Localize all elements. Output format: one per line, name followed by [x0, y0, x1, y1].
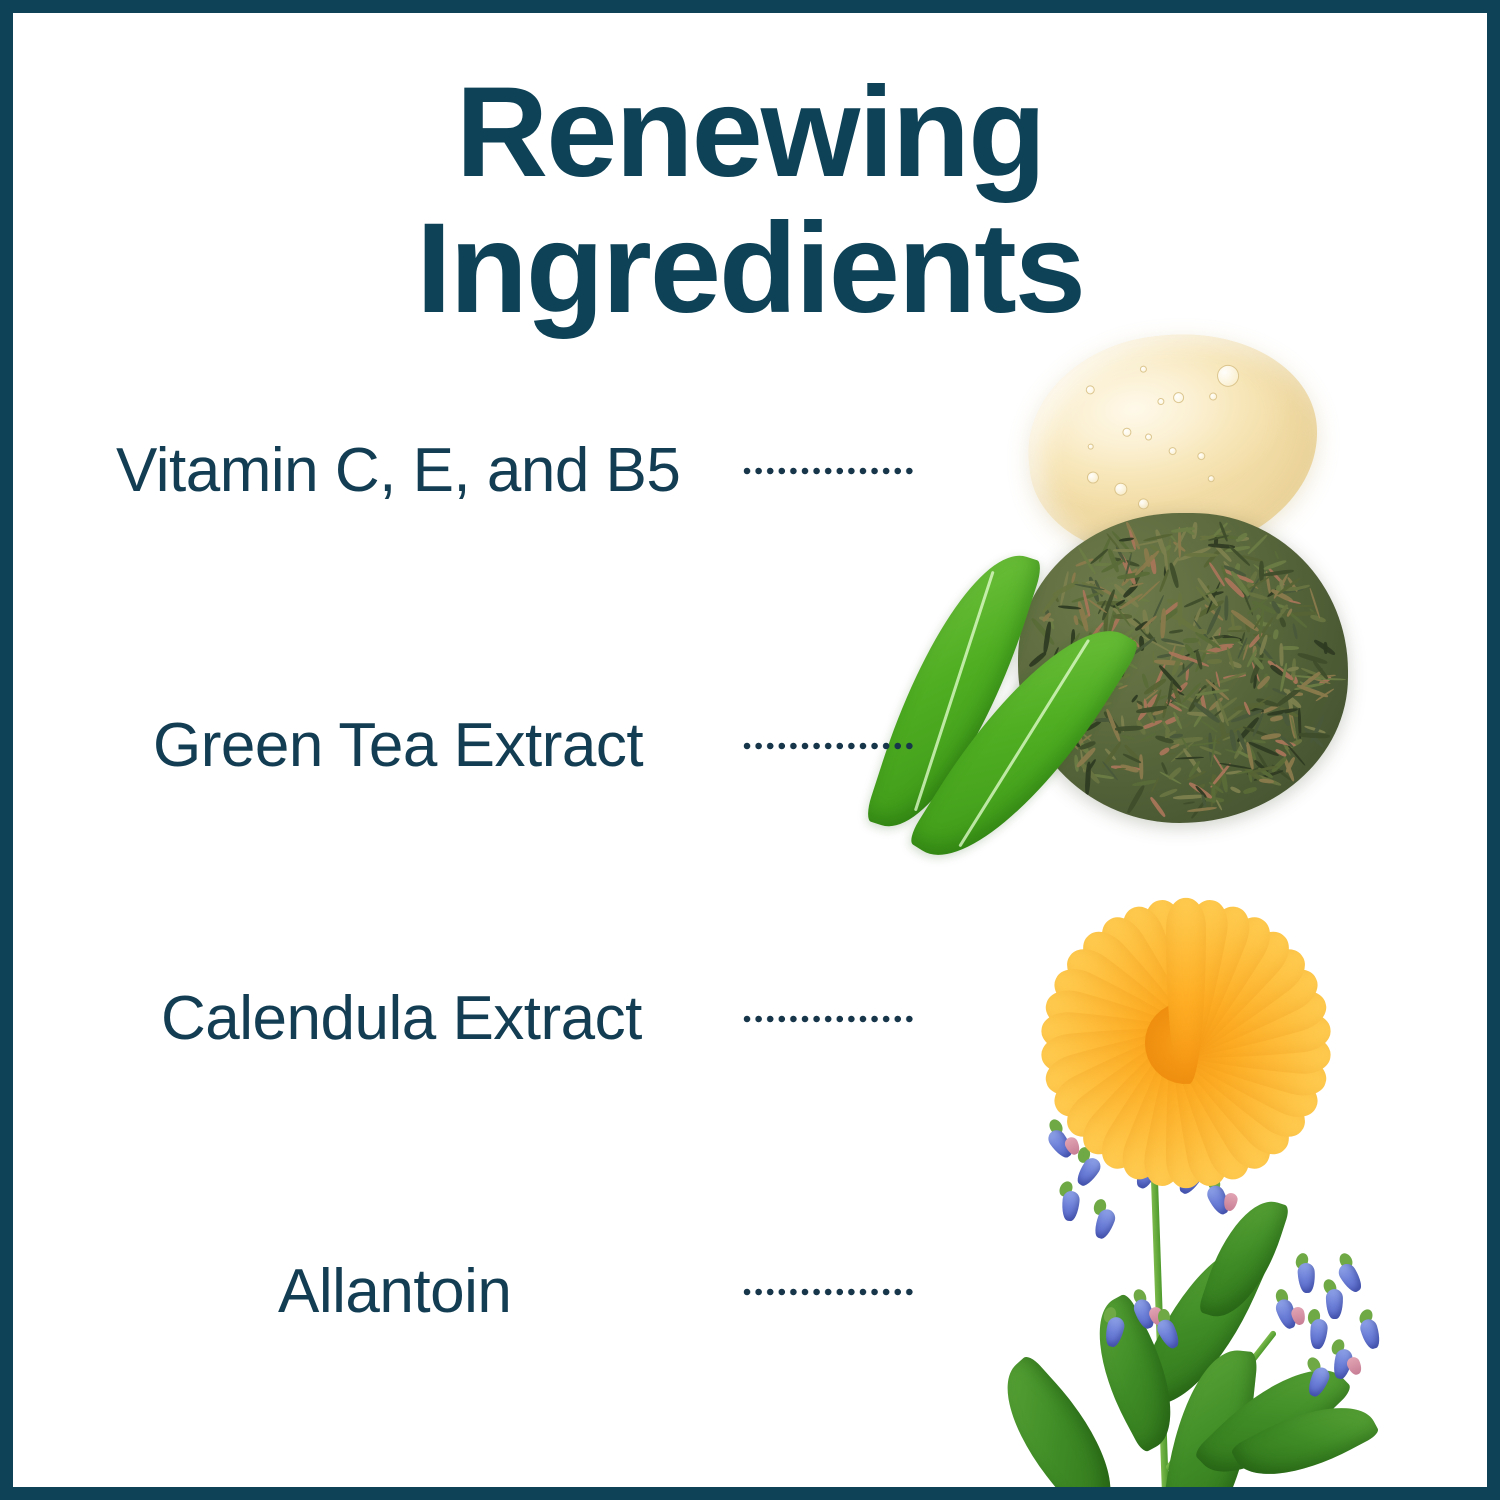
tea-leaf-fragment [1207, 658, 1222, 664]
ingredients-infographic: Renewing Ingredients Vitamin C, E, and B… [0, 0, 1500, 1500]
comfrey-bell-flower [1308, 1318, 1328, 1350]
tea-leaf-fragment [1273, 630, 1280, 640]
tea-leaf-fragment [1140, 754, 1144, 779]
ingredient-label-green-tea: Green Tea Extract [153, 715, 643, 777]
tea-leaf-fragment [1113, 548, 1135, 551]
leader-dots-green-tea [743, 742, 913, 750]
tea-leaf-fragment [1183, 801, 1195, 805]
tea-leaf-fragment [1292, 623, 1298, 640]
ingredient-row-inner: Allantoin [43, 1249, 913, 1335]
ingredient-label-wrap: Vitamin C, E, and B5 [116, 428, 680, 514]
tea-leaf-fragment [1116, 768, 1126, 771]
ingredient-row-inner: Green Tea Extract [43, 703, 913, 789]
tea-leaf-fragment [1160, 608, 1166, 638]
tea-leaf-fragment [1247, 533, 1268, 554]
tea-leaf-fragment [1169, 629, 1183, 634]
tea-leaf-fragment [1211, 787, 1215, 804]
tea-leaf-fragment [1295, 605, 1314, 607]
page-title-line-2: Ingredients [13, 201, 1487, 337]
comfrey-bell-flower [1297, 1263, 1316, 1294]
tea-leaf-fragment [1169, 562, 1181, 589]
tea-leaf-fragment [1226, 647, 1235, 670]
ingredient-label-wrap: Green Tea Extract [153, 703, 643, 789]
page-title-line-1: Renewing [13, 65, 1487, 201]
ingredient-label-wrap: Allantoin [278, 1249, 511, 1335]
tea-leaf-fragment [1288, 599, 1301, 604]
ingredient-row-vitamins: Vitamin C, E, and B5 [43, 428, 913, 514]
tea-leaf-fragment [1243, 786, 1258, 795]
tea-leaf-fragment [1224, 596, 1229, 621]
serum-bubble [1197, 452, 1206, 461]
leader-dots-allantoin [743, 1288, 913, 1296]
comfrey-bell-flower [1326, 1289, 1343, 1319]
ingredient-collage [868, 313, 1487, 1487]
comfrey-bell-flower [1358, 1317, 1383, 1351]
tea-leaf-fragment [1121, 734, 1135, 741]
tea-leaf-fragment [1274, 551, 1280, 560]
comfrey-bell-flower [1061, 1190, 1081, 1222]
ingredient-label-allantoin: Allantoin [278, 1261, 511, 1323]
serum-bubble [1168, 447, 1177, 456]
serum-bubble [1145, 433, 1153, 441]
serum-bubble [1086, 471, 1099, 484]
serum-bubble [1209, 392, 1218, 401]
tea-leaf-fragment [1177, 593, 1182, 627]
comfrey-flower-bud [1345, 1355, 1364, 1377]
page-title: Renewing Ingredients [13, 65, 1487, 336]
serum-bubble [1085, 385, 1095, 395]
serum-bubble [1114, 482, 1128, 496]
serum-bubble [1207, 475, 1215, 483]
ingredient-row-allantoin: Allantoin [43, 1249, 913, 1335]
serum-bubble [1137, 498, 1149, 510]
ingredient-label-wrap: Calendula Extract [161, 976, 642, 1062]
comfrey-bell-flower [1335, 1261, 1365, 1295]
serum-bubble [1122, 427, 1132, 437]
serum-bubble [1157, 398, 1165, 406]
serum-bubble [1173, 392, 1185, 404]
tea-leaf-fragment [1141, 673, 1149, 688]
ingredient-row-calendula: Calendula Extract [43, 976, 913, 1062]
ingredient-label-vitamins: Vitamin C, E, and B5 [116, 440, 680, 502]
tea-leaf-fragment [1230, 785, 1242, 793]
tea-leaf-fragment [1298, 732, 1330, 738]
ingredient-row-inner: Calendula Extract [43, 976, 913, 1062]
serum-bubble [1140, 365, 1148, 373]
tea-leaf-fragment [1125, 785, 1145, 815]
leader-dots-vitamins [743, 467, 913, 475]
tea-leaf-fragment [1105, 708, 1121, 742]
serum-bubble [1216, 364, 1240, 388]
ingredient-row-inner: Vitamin C, E, and B5 [43, 428, 913, 514]
leader-dots-calendula [743, 1015, 913, 1023]
tea-leaf-fragment [1279, 617, 1287, 628]
ingredient-label-calendula: Calendula Extract [161, 988, 642, 1050]
infographic-canvas: Renewing Ingredients Vitamin C, E, and B… [13, 13, 1487, 1487]
tea-leaf-fragment [1150, 797, 1167, 818]
ingredient-row-green-tea: Green Tea Extract [43, 703, 913, 789]
tea-leaf-fragment [1187, 806, 1217, 813]
comfrey-flower-bud [1222, 1192, 1239, 1212]
serum-bubble [1087, 443, 1094, 450]
